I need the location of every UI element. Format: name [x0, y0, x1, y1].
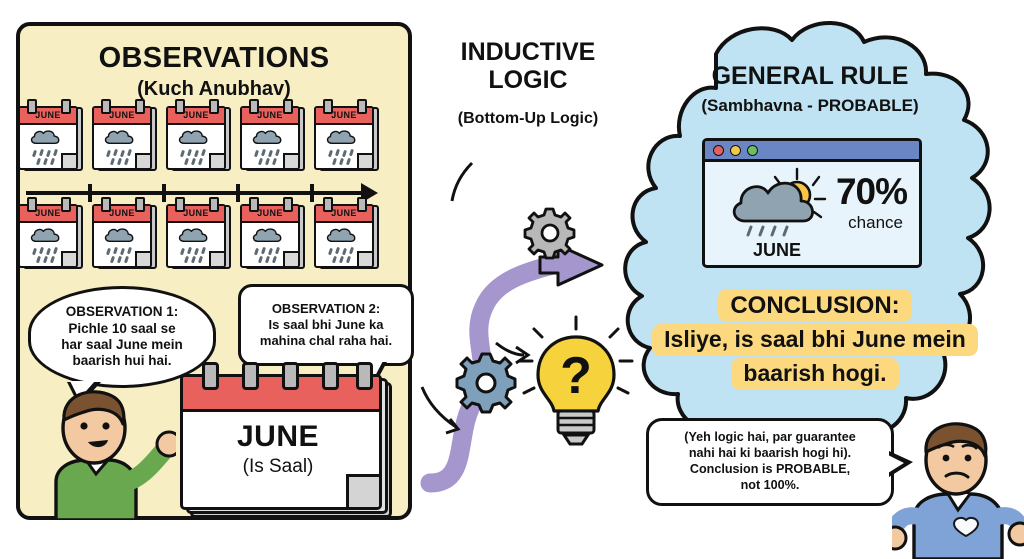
rain-cloud-icon: [28, 226, 66, 244]
chance-label: chance: [848, 213, 903, 233]
observation-2-bubble: OBSERVATION 2: Is saal bhi June ka mahin…: [238, 284, 414, 366]
observation-1-line3: baarish hui hai.: [61, 353, 183, 369]
conclusion-line-1: Isliye, is saal bhi June mein: [652, 324, 978, 356]
caveat-line-1: (Yeh logic hai, par guarantee: [684, 430, 855, 446]
calendar-ring-right: [357, 99, 367, 114]
observation-2-heading: OBSERVATION 2:: [260, 301, 392, 317]
eye-right: [965, 455, 972, 462]
calendar-ring-left: [27, 99, 37, 114]
calendar-ring-right: [209, 197, 219, 212]
title-line-2: LOGIC: [418, 66, 638, 94]
calendar-ring-right: [357, 197, 367, 212]
rain-cloud-icon: [102, 226, 140, 244]
calendar-ring: [242, 362, 259, 390]
calendar-ring-left: [101, 197, 111, 212]
calendar-body: JUNE: [240, 204, 300, 268]
calendar-ring-right: [283, 197, 293, 212]
eye-right: [102, 422, 109, 429]
general-rule-title: GENERAL RULE: [640, 62, 980, 91]
rain-cloud-icon: [28, 128, 66, 146]
calendar-ring-right: [135, 99, 145, 114]
left-hand: [892, 527, 906, 549]
observation-1-heading: OBSERVATION 1:: [61, 304, 183, 320]
caveat-text: (Yeh logic hai, par guarantee nahi hai k…: [677, 430, 862, 493]
rain-drops: [748, 227, 787, 235]
calendar-body: JUNE: [240, 106, 300, 170]
big-calendar-month: JUNE: [180, 420, 376, 454]
calendar-ring: [202, 362, 219, 390]
caveat-line-4: not 100%.: [684, 478, 855, 494]
bulb-question-mark: ?: [560, 347, 592, 405]
calendar-body: JUNE: [18, 106, 78, 170]
observations-title: OBSERVATIONS: [20, 42, 408, 75]
calendar-fold: [209, 251, 224, 266]
rain-cloud-icon: [102, 128, 140, 146]
calendar-fold: [61, 153, 76, 168]
eye-left: [943, 455, 950, 462]
caveat-line-2: nahi hai ki baarish hogi hi).: [684, 446, 855, 462]
rain-cloud-icon: [250, 128, 288, 146]
calendar-icon: JUNE: [314, 102, 376, 168]
conclusion-line-2: baarish hogi.: [731, 358, 898, 390]
window-close-dot[interactable]: [713, 145, 724, 156]
calendar-fold: [357, 251, 372, 266]
calendar-body: JUNE: [314, 106, 374, 170]
calendar-icon: JUNE: [18, 200, 80, 266]
observation-2-line1: Is saal bhi June ka: [260, 317, 392, 333]
calendar-fold: [283, 153, 298, 168]
calendar-ring-left: [27, 197, 37, 212]
calendar-icon: JUNE: [18, 102, 80, 168]
calendar-ring-left: [175, 197, 185, 212]
calendar-body: JUNE: [166, 204, 226, 268]
observations-subtitle: (Kuch Anubhav): [20, 78, 408, 101]
calendar-icon: JUNE: [314, 200, 376, 266]
calendar-body: JUNE: [92, 106, 152, 170]
widget-month-label: JUNE: [731, 240, 823, 261]
calendar-fold: [283, 251, 298, 266]
calendar-fold: [135, 153, 150, 168]
calendar-icon: JUNE: [166, 102, 228, 168]
calendar-ring-right: [135, 197, 145, 212]
big-calendar-year-note: (Is Saal): [180, 456, 376, 478]
window-maximize-dot[interactable]: [747, 145, 758, 156]
calendar-icon: JUNE: [166, 200, 228, 266]
observation-1-text: OBSERVATION 1: Pichle 10 saal se har saa…: [51, 304, 193, 370]
gear-gray-icon: [525, 209, 574, 258]
hand: [157, 432, 176, 456]
rain-cloud-icon: [176, 128, 214, 146]
calendar-icon: JUNE: [92, 200, 154, 266]
conclusion-block: CONCLUSION: Isliye, is saal bhi June mei…: [650, 288, 980, 391]
calendar-fold: [135, 251, 150, 266]
rain-cloud-icon: [324, 128, 362, 146]
big-calendar: JUNE (Is Saal): [180, 368, 398, 516]
observation-1-line2: har saal June mein: [61, 337, 183, 353]
right-hand: [1009, 523, 1024, 545]
conclusion-heading: CONCLUSION:: [718, 289, 911, 322]
bulb-tip: [564, 435, 588, 444]
window-minimize-dot[interactable]: [730, 145, 741, 156]
calendar-row-top: JUNE JUNE: [18, 102, 376, 168]
calendar-ring-left: [101, 99, 111, 114]
calendar-ring: [282, 362, 299, 390]
calendar-icon: JUNE: [240, 200, 302, 266]
sun-behind-rain-cloud-icon: [727, 167, 827, 241]
observation-2-line2: mahina chal raha hai.: [260, 333, 392, 349]
rain-probability-value: 70%: [836, 171, 907, 213]
weather-widget[interactable]: 70% chance JUNE: [702, 138, 922, 268]
pointing-man-character: [26, 386, 176, 520]
calendar-body: JUNE: [18, 204, 78, 268]
calendar-icon: JUNE: [92, 102, 154, 168]
shrugging-man-character: [892, 408, 1024, 559]
inductive-logic-title: INDUCTIVE LOGIC: [418, 38, 638, 94]
widget-titlebar: [705, 141, 919, 162]
calendar-ring-left: [249, 99, 259, 114]
calendar-icon: JUNE: [240, 102, 302, 168]
calendar-body: JUNE: [314, 204, 374, 268]
calendar-ring: [356, 362, 373, 390]
calendar-fold: [209, 153, 224, 168]
bulb-base: [558, 411, 594, 433]
observation-2-text: OBSERVATION 2: Is saal bhi June ka mahin…: [252, 301, 400, 349]
calendar-body: JUNE: [92, 204, 152, 268]
calendar-fold: [357, 153, 372, 168]
calendar-ring-right: [209, 99, 219, 114]
rain-cloud-icon: [324, 226, 362, 244]
calendar-row-bottom: JUNE JUNE: [18, 200, 376, 266]
rain-cloud-icon: [250, 226, 288, 244]
calendar-ring-right: [283, 99, 293, 114]
observation-1-line1: Pichle 10 saal se: [61, 321, 183, 337]
calendar-ring-left: [249, 197, 259, 212]
calendar-body: JUNE: [166, 106, 226, 170]
general-rule-subtitle: (Sambhavna - PROBABLE): [636, 96, 984, 116]
calendar-ring-left: [175, 99, 185, 114]
calendar-ring-left: [323, 197, 333, 212]
caveat-line-3: Conclusion is PROBABLE,: [684, 462, 855, 478]
infographic-canvas: OBSERVATIONS (Kuch Anubhav) JUNE: [0, 0, 1024, 559]
calendar-ring: [322, 362, 339, 390]
calendar-page-fold: [346, 474, 379, 507]
calendar-ring-right: [61, 197, 71, 212]
calendar-ring-right: [61, 99, 71, 114]
calendar-fold: [61, 251, 76, 266]
title-line-1: INDUCTIVE: [418, 38, 638, 66]
rain-cloud-icon: [176, 226, 214, 244]
eye-left: [80, 422, 87, 429]
calendar-ring-left: [323, 99, 333, 114]
caveat-bubble: (Yeh logic hai, par guarantee nahi hai k…: [646, 418, 894, 506]
gear-blue-icon: [457, 354, 515, 412]
